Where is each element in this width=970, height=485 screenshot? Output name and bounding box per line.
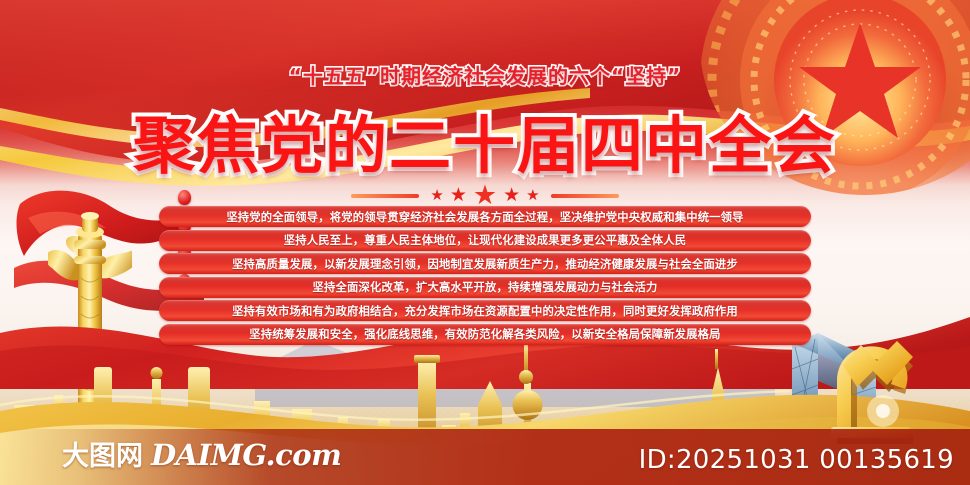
- slogan-text: 坚持有效市场和有为政府相结合，充分发挥市场在资源配置中的决定性作用，同时更好发挥…: [232, 303, 738, 319]
- star-icon: ★: [526, 188, 539, 203]
- slogan-text: 坚持统筹发展和安全，强化底线思维，有效防范化解各类风险，以新安全格局保障新发展格…: [249, 326, 720, 342]
- watermark-english: DAIMG.com: [151, 438, 341, 472]
- poster-subtitle: “十五五”时期经济社会发展的六个“坚持”: [0, 60, 970, 89]
- poster-canvas: “十五五”时期经济社会发展的六个“坚持” 聚焦党的二十届四中全会 ★ ★ ★ ★…: [0, 0, 970, 485]
- star-icon: ★: [473, 182, 497, 209]
- star-icon: ★: [430, 188, 443, 203]
- slogan-bar: 坚持高质量发展，以新发展理念引领，因地制宜发展新质生产力，推动经济健康发展与社会…: [159, 253, 811, 274]
- slogan-bar: 坚持有效市场和有为政府相结合，充分发挥市场在资源配置中的决定性作用，同时更好发挥…: [159, 300, 811, 321]
- slogan-bar: 坚持党的全面领导，将党的领导贯穿经济社会发展各方面全过程，坚决维护党中央权威和集…: [159, 206, 811, 227]
- slogan-text: 坚持高质量发展，以新发展理念引领，因地制宜发展新质生产力，推动经济健康发展与社会…: [232, 256, 738, 272]
- slogan-text: 坚持人民至上，尊重人民主体地位，让现代化建设成果更多更公平惠及全体人民: [284, 232, 686, 248]
- star-icon: ★: [450, 186, 467, 205]
- poster-title: 聚焦党的二十届四中全会: [0, 95, 970, 185]
- slogan-text: 坚持全面深化改革，扩大高水平开放，持续增强发展动力与社会活力: [313, 279, 658, 295]
- divider-stars: ★ ★ ★ ★ ★: [430, 182, 539, 209]
- divider-line-right: [551, 194, 619, 198]
- slogan-text: 坚持党的全面领导，将党的领导贯穿经济社会发展各方面全过程，坚决维护党中央权威和集…: [226, 209, 743, 225]
- star-icon: ★: [503, 186, 520, 205]
- poster-content: “十五五”时期经济社会发展的六个“坚持” 聚焦党的二十届四中全会 ★ ★ ★ ★…: [0, 0, 970, 485]
- slogan-list: 坚持党的全面领导，将党的领导贯穿经济社会发展各方面全过程，坚决维护党中央权威和集…: [0, 206, 970, 345]
- divider-line-left: [351, 194, 419, 198]
- watermark-chinese: 大图网: [62, 434, 143, 473]
- image-id-label: ID:20251031 00135619: [639, 445, 954, 475]
- star-divider: ★ ★ ★ ★ ★: [0, 182, 970, 209]
- slogan-bar: 坚持全面深化改革，扩大高水平开放，持续增强发展动力与社会活力: [159, 277, 811, 298]
- site-watermark: 大图网 DAIMG.com: [62, 434, 341, 473]
- slogan-bar: 坚持统筹发展和安全，强化底线思维，有效防范化解各类风险，以新安全格局保障新发展格…: [159, 324, 811, 345]
- slogan-bar: 坚持人民至上，尊重人民主体地位，让现代化建设成果更多更公平惠及全体人民: [159, 230, 811, 251]
